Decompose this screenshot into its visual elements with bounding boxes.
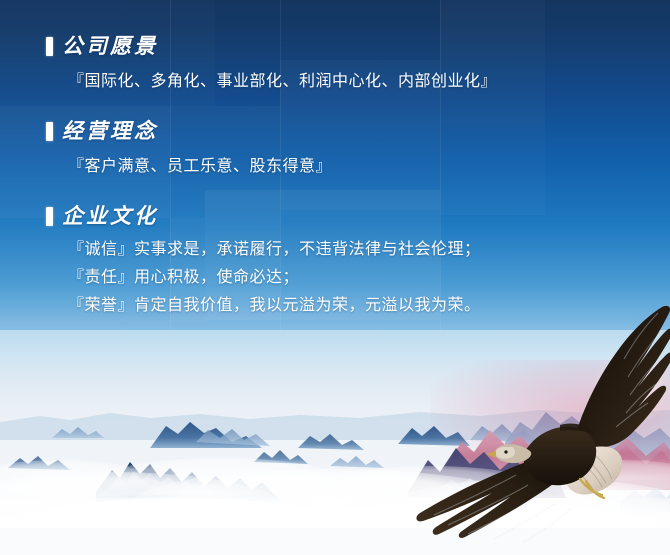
bar-marker-icon [46,122,53,141]
section-management-concept: 经营理念 『客户满意、员工乐意、股东得意』 [46,117,332,180]
section-heading-vision: 公司愿景 [46,32,497,60]
culture-line-1: 『诚信』实事求是，承诺履行，不违背法律与社会伦理； [68,235,481,263]
mountain-range-svg [0,330,670,555]
mountain-cloud-scenery [0,330,670,555]
heading-label: 经营理念 [62,119,158,143]
corporate-culture-banner: 公司愿景 『国际化、多角化、事业部化、利润中心化、内部创业化』 经营理念 『客户… [0,0,670,555]
heading-label: 企业文化 [62,204,158,228]
culture-line-2: 『责任』用心积极，使命必达； [68,263,481,291]
section-heading-concept: 经营理念 [46,117,332,145]
bar-marker-icon [46,37,53,56]
vision-line-1: 『国际化、多角化、事业部化、利润中心化、内部创业化』 [68,67,497,95]
concept-line-1: 『客户满意、员工乐意、股东得意』 [68,152,332,180]
section-corporate-culture: 企业文化 『诚信』实事求是，承诺履行，不违背法律与社会伦理； 『责任』用心积极，… [46,202,481,319]
section-heading-culture: 企业文化 [46,202,481,230]
sun-glow-icon [592,348,670,426]
culture-line-3: 『荣誉』肯定自我价值，我以元溢为荣，元溢以我为荣。 [68,291,481,319]
text-content: 公司愿景 『国际化、多角化、事业部化、利润中心化、内部创业化』 经营理念 『客户… [0,0,670,340]
heading-label: 公司愿景 [62,34,158,58]
bar-marker-icon [46,207,53,226]
section-vision: 公司愿景 『国际化、多角化、事业部化、利润中心化、内部创业化』 [46,32,497,95]
